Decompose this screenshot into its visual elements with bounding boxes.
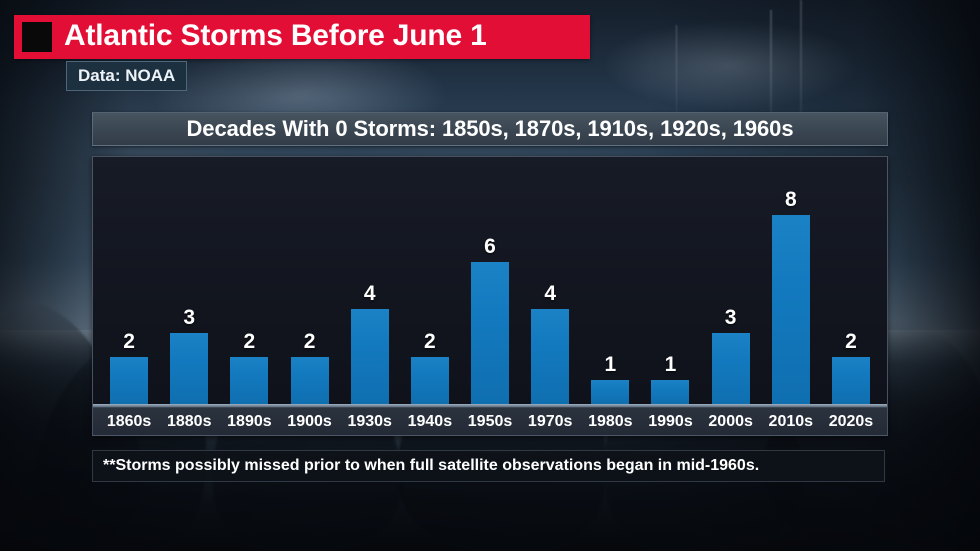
bar: [591, 380, 629, 404]
bar: [351, 309, 389, 404]
bar-value-label: 1: [604, 354, 616, 375]
bar: [170, 333, 208, 404]
bar-value-label: 4: [364, 283, 376, 304]
bar: [712, 333, 750, 404]
x-axis-tick-label: 2020s: [821, 413, 881, 431]
bar: [291, 357, 329, 404]
x-axis-tick-label: 2010s: [761, 413, 821, 431]
subtitle-bar: Decades With 0 Storms: 1850s, 1870s, 191…: [92, 112, 888, 146]
bar-slot: 2: [821, 157, 881, 404]
bar-value-label: 2: [845, 331, 857, 352]
bar-value-label: 1: [665, 354, 677, 375]
x-axis-tick-label: 1900s: [279, 413, 339, 431]
x-axis-labels: 1860s1880s1890s1900s1930s1940s1950s1970s…: [93, 407, 887, 436]
x-axis-tick-label: 2000s: [701, 413, 761, 431]
bar: [832, 357, 870, 404]
data-source-badge: Data: NOAA: [66, 61, 187, 91]
bar-slot: 2: [400, 157, 460, 404]
x-axis-tick-label: 1950s: [460, 413, 520, 431]
bar-value-label: 6: [484, 236, 496, 257]
footnote-bar: **Storms possibly missed prior to when f…: [92, 450, 885, 482]
x-axis-tick-label: 1940s: [400, 413, 460, 431]
bar-slot: 8: [761, 157, 821, 404]
bar-value-label: 2: [424, 331, 436, 352]
x-axis-tick-label: 1980s: [580, 413, 640, 431]
bar-chart: 2322426411382 1860s1880s1890s1900s1930s1…: [92, 156, 888, 436]
bar: [651, 380, 689, 404]
bar-value-label: 2: [304, 331, 316, 352]
title-banner: Atlantic Storms Before June 1: [14, 15, 590, 59]
subtitle-text: Decades With 0 Storms: 1850s, 1870s, 191…: [187, 116, 794, 142]
x-axis-tick-label: 1890s: [219, 413, 279, 431]
x-axis-tick-label: 1880s: [159, 413, 219, 431]
bar: [471, 262, 509, 404]
bar-value-label: 4: [544, 283, 556, 304]
bar-slot: 4: [520, 157, 580, 404]
x-axis-tick-label: 1990s: [640, 413, 700, 431]
bar-value-label: 2: [123, 331, 135, 352]
brand-square-icon: [22, 22, 52, 52]
bar-value-label: 2: [244, 331, 256, 352]
bar-slot: 2: [99, 157, 159, 404]
footnote-text: **Storms possibly missed prior to when f…: [103, 457, 759, 475]
x-axis-tick-label: 1930s: [340, 413, 400, 431]
bar-value-label: 3: [183, 307, 195, 328]
bar: [411, 357, 449, 404]
x-axis-tick-label: 1970s: [520, 413, 580, 431]
x-axis-tick-label: 1860s: [99, 413, 159, 431]
bar-slot: 3: [701, 157, 761, 404]
bar-slot: 2: [219, 157, 279, 404]
plot-area: 2322426411382: [93, 157, 887, 404]
bar: [110, 357, 148, 404]
bar: [772, 215, 810, 404]
bar-slot: 3: [159, 157, 219, 404]
bar: [531, 309, 569, 404]
bar-slot: 4: [340, 157, 400, 404]
bar-slot: 1: [640, 157, 700, 404]
page-title: Atlantic Storms Before June 1: [64, 21, 487, 53]
broadcast-graphic: Atlantic Storms Before June 1 Data: NOAA…: [0, 0, 980, 551]
bar-value-label: 3: [725, 307, 737, 328]
bar-slot: 6: [460, 157, 520, 404]
bar-slot: 1: [580, 157, 640, 404]
bar-slot: 2: [279, 157, 339, 404]
bar-value-label: 8: [785, 189, 797, 210]
bar: [230, 357, 268, 404]
